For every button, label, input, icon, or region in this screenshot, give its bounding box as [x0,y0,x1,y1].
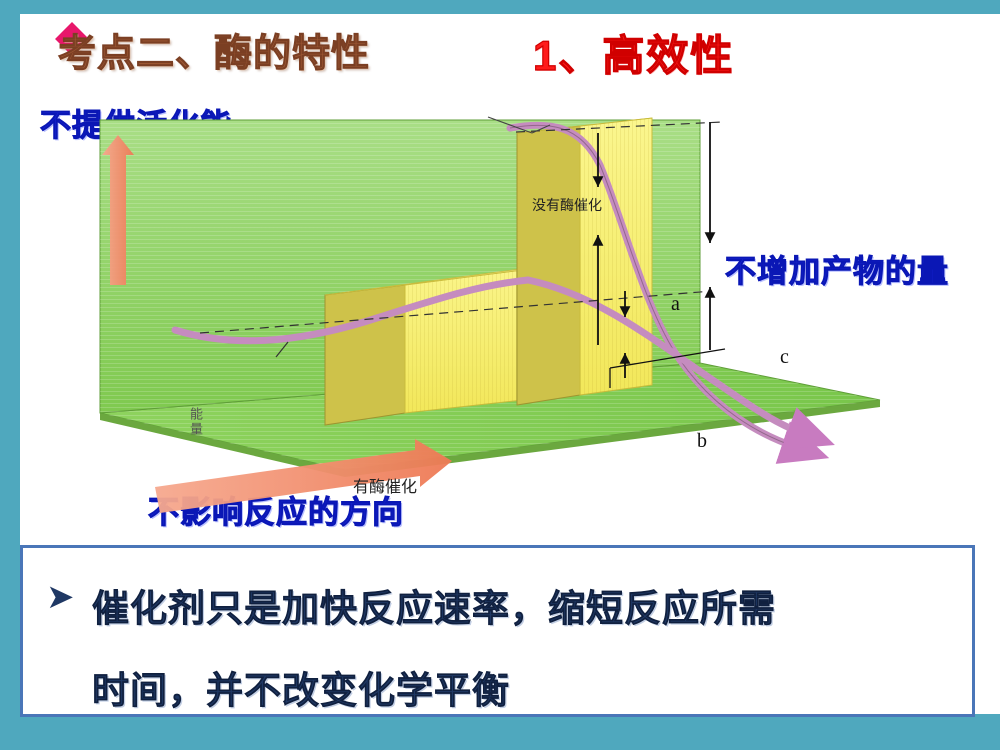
marker-c: c [780,346,789,369]
diagram-svg [80,95,970,535]
label-no-enzyme: 没有酶催化 [532,195,602,215]
page-subtitle: 1、高效性 [533,22,734,83]
conclusion-line-2: 时间，并不改变化学平衡 [92,660,510,714]
marker-a: a [671,293,680,316]
slide-root: 考点二、酶的特性 1、高效性 不提供活化能 不增加产物的量 不影响反应的方向 [0,0,1000,750]
conclusion-line-1: 催化剂只是加快反应速率，缩短反应所需 [92,578,776,632]
label-with-enzyme: 有酶催化 [353,473,417,497]
marker-b: b [697,430,707,453]
label-y-axis-energy: 能量 [186,407,205,437]
activation-energy-diagram: 没有酶催化 有酶催化 反应过程 能量 a b c [80,95,970,535]
triangle-arrow-bullet-icon: ➤ [46,580,75,614]
page-title: 考点二、酶的特性 [58,22,370,77]
